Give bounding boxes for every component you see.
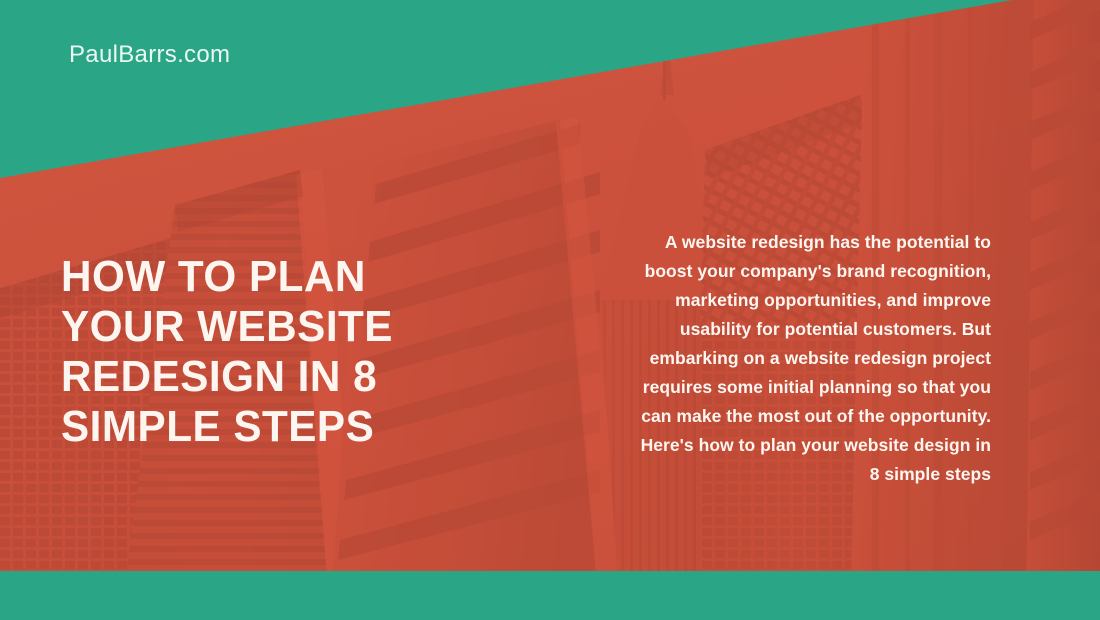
teal-footer-band xyxy=(0,571,1100,620)
site-logo-text: PaulBarrs.com xyxy=(69,41,230,69)
headline-line-1: How to Plan xyxy=(61,252,474,302)
headline-line-3: Redesign in 8 xyxy=(61,352,474,402)
body-paragraph: A website redesign has the potential to … xyxy=(631,228,991,489)
page-title: How to Plan Your Website Redesign in 8 S… xyxy=(61,252,491,452)
headline-line-2: Your Website xyxy=(61,302,474,352)
promo-banner: PaulBarrs.com How to Plan Your Website R… xyxy=(0,0,1100,620)
headline-line-4: Simple Steps xyxy=(61,402,474,452)
